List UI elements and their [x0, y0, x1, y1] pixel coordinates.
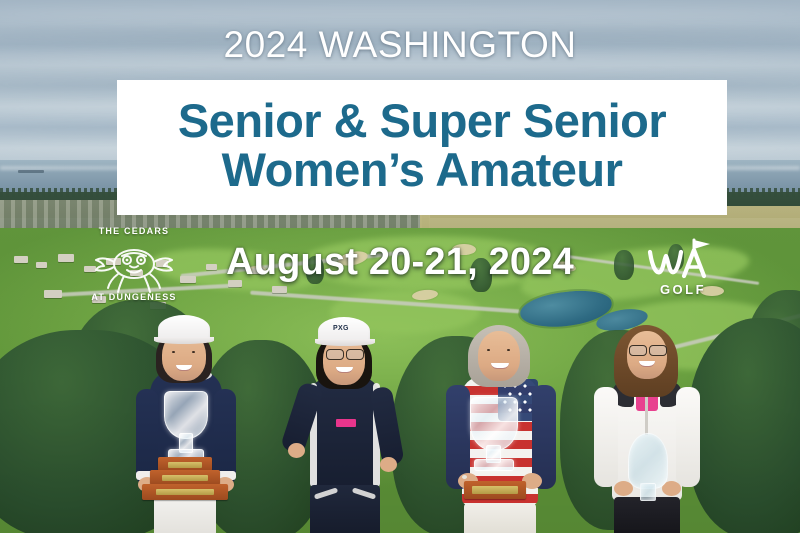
golfer-4-award-plate — [628, 433, 668, 489]
distant-ship — [18, 170, 44, 173]
golfer-1-pants — [154, 495, 216, 533]
golfer-1-trophy-plate — [156, 489, 214, 495]
golfer-2-brand-logo — [336, 419, 356, 427]
kicker-text: 2024 WASHINGTON — [0, 26, 800, 63]
wa-golf-wordmark: GOLF — [644, 282, 722, 297]
cedars-at-dungeness-logo: THE CEDARS — [82, 226, 186, 306]
golfer-4-glasses — [649, 345, 667, 356]
cloud-band — [0, 6, 800, 22]
golfer-1-cap-brim — [154, 337, 214, 344]
golfer-4-glasses — [629, 345, 647, 356]
golfer-3-trophy-foot — [474, 459, 514, 471]
golfer-2-hand — [288, 443, 305, 458]
golfer-4-award-base — [640, 483, 656, 501]
golfer-4 — [588, 305, 706, 533]
wa-monogram-with-golf-flag-icon — [644, 238, 722, 282]
golfer-4-left-arm — [594, 387, 618, 487]
golfer-2: PXG — [288, 305, 400, 533]
tournament-poster: PXG — [0, 0, 800, 533]
golfer-2-glasses — [346, 349, 364, 360]
golfer-1 — [128, 305, 240, 533]
golfer-2-cap-brim — [315, 339, 375, 346]
headline-line-1: Senior & Super Senior — [178, 97, 666, 146]
golfer-4-pants — [614, 497, 680, 533]
golfer-3-head — [478, 331, 520, 381]
golfer-3-ring — [462, 475, 467, 479]
golfer-3-pants — [464, 503, 536, 533]
golfer-1-trophy-bowl — [164, 391, 208, 439]
golfer-3-trophy-plate — [472, 486, 518, 494]
golfer-2-hand — [380, 457, 397, 472]
wa-golf-logo: GOLF — [644, 238, 722, 304]
golfer-3 — [440, 305, 560, 533]
golfer-2-glasses — [326, 349, 344, 360]
golfer-2-cap-logo: PXG — [333, 325, 349, 332]
headline-panel: Senior & Super Senior Women’s Amateur — [117, 80, 727, 215]
golfer-3-trophy-bowl — [470, 397, 518, 451]
golfer-1-trophy-plate — [162, 475, 208, 481]
headline-line-2: Women’s Amateur — [222, 146, 623, 195]
cedars-arc-bottom-text: AT DUNGENESS — [82, 292, 186, 302]
golfer-1-trophy-plate — [168, 462, 202, 468]
golfer-4-right-arm — [676, 387, 700, 487]
